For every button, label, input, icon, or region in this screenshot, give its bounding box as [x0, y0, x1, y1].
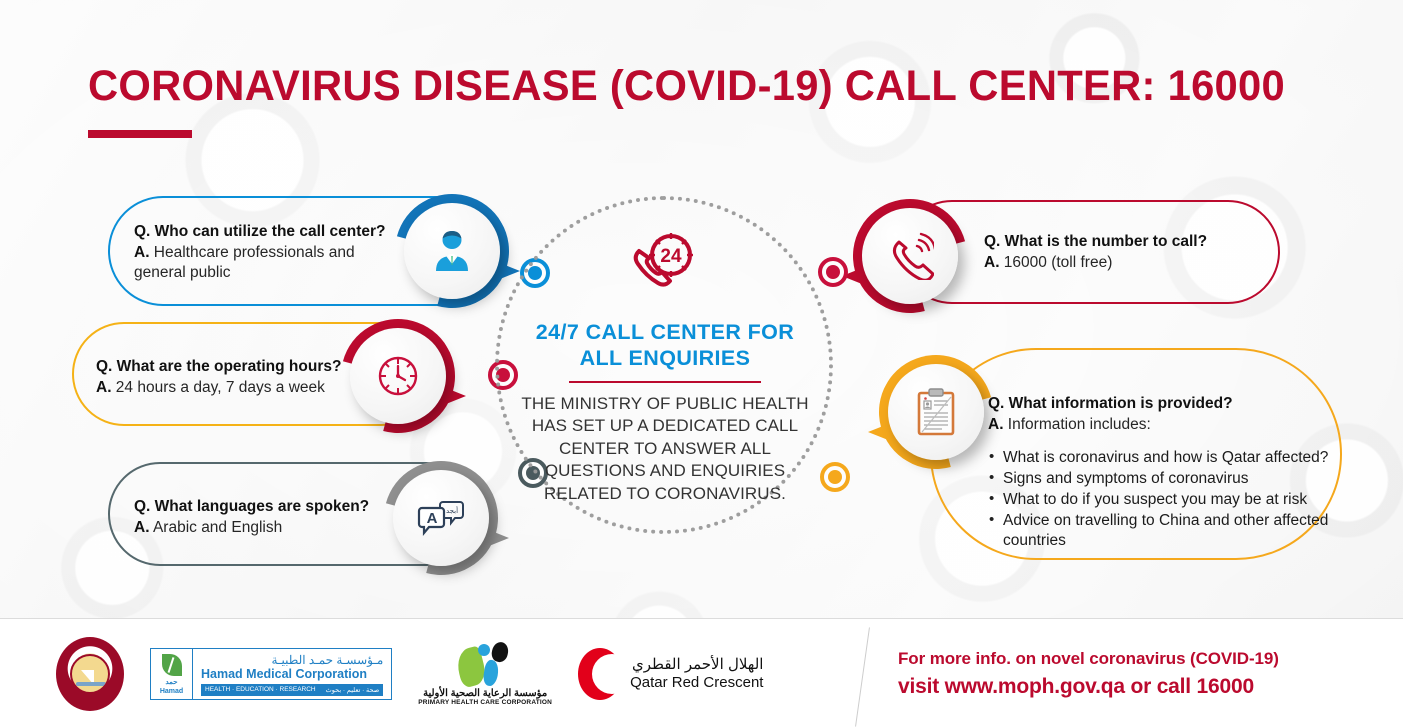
list-item: Signs and symptoms of coronavirus	[988, 469, 1340, 489]
center-icon-label: 24	[660, 246, 682, 267]
hmc-leaf-icon	[162, 654, 182, 676]
marker-red-right	[818, 257, 848, 287]
center-body-text: THE MINISTRY OF PUBLIC HEALTH HAS SET UP…	[519, 393, 811, 506]
hmc-wordmark: مـؤسسـة حمـد الطبيـة Hamad Medical Corpo…	[193, 649, 391, 699]
footer-call-to-action: For more info. on novel coronavirus (COV…	[898, 649, 1279, 699]
card-hours-text: Q. What are the operating hours? A. 24 h…	[96, 357, 361, 398]
card-hours-question: Q. What are the operating hours?	[96, 357, 361, 378]
center-heading-line2: ALL ENQUIRIES	[519, 346, 811, 372]
card-number-text: Q. What is the number to call? A. 16000 …	[984, 232, 1254, 273]
hours-icon-disc	[350, 328, 446, 424]
hmc-arabic-name: مـؤسسـة حمـد الطبيـة	[201, 653, 383, 667]
svg-text:A: A	[427, 510, 438, 527]
list-item: What is coronavirus and how is Qatar aff…	[988, 448, 1340, 468]
who-icon-disc	[404, 203, 500, 299]
phcc-blue-dot	[478, 644, 490, 656]
phcc-arabic-name: مؤسسة الرعاية الصحية الأولية	[423, 688, 547, 699]
footer-divider-line	[855, 627, 870, 726]
red-crescent-icon	[578, 648, 622, 700]
clipboard-icon	[914, 387, 958, 437]
hmc-tagline-ar: صحة · تعليم · بحوث	[326, 686, 380, 694]
qrc-english-name: Qatar Red Crescent	[630, 674, 763, 692]
partner-logos: حمد Hamad مـؤسسـة حمـد الطبيـة Hamad Med…	[56, 637, 763, 711]
infographic-poster: CORONAVIRUS DISEASE (COVID-19) CALL CENT…	[0, 0, 1403, 728]
card-information-text: Q. What information is provided? A. Info…	[988, 394, 1340, 552]
card-who-answer: Healthcare professionals and general pub…	[134, 244, 355, 282]
speech-bubbles-icon: أبجد A	[416, 497, 466, 539]
marker-orange	[820, 462, 850, 492]
hmc-mark-english: Hamad	[160, 688, 183, 695]
information-icon-disc	[888, 364, 984, 460]
card-hours-icon-bubble	[350, 328, 446, 424]
hamad-medical-corporation-logo: حمد Hamad مـؤسسـة حمـد الطبيـة Hamad Med…	[150, 648, 392, 700]
cta-line-2[interactable]: visit www.moph.gov.qa or call 16000	[898, 675, 1279, 699]
list-item: What to do if you suspect you may be at …	[988, 490, 1340, 510]
hmc-mark-arabic: حمد	[165, 678, 177, 686]
qrc-wordmark: الهلال الأحمر القطري Qatar Red Crescent	[630, 656, 763, 692]
card-who-answer-lead: A.	[134, 244, 150, 261]
card-hours-answer-lead: A.	[96, 379, 112, 396]
card-number-question: Q. What is the number to call?	[984, 232, 1254, 253]
card-hours-answer: 24 hours a day, 7 days a week	[112, 379, 325, 396]
number-icon-disc	[862, 208, 958, 304]
cta-line-1: For more info. on novel coronavirus (COV…	[898, 649, 1279, 669]
page-title-block: CORONAVIRUS DISEASE (COVID-19) CALL CENT…	[88, 62, 1322, 138]
card-languages-question: Q. What languages are spoken?	[134, 497, 399, 518]
hmc-english-name: Hamad Medical Corporation	[201, 667, 383, 681]
clock-icon	[374, 352, 422, 400]
information-bullet-list: What is coronavirus and how is Qatar aff…	[988, 448, 1340, 551]
marker-red-right-core	[826, 265, 840, 279]
center-icon-wrap: 24	[519, 224, 811, 306]
center-heading-underline	[569, 381, 761, 383]
card-number-icon-bubble	[862, 208, 958, 304]
phone-24-hours-icon: 24	[627, 229, 703, 301]
card-languages-answer: Arabic and English	[150, 519, 283, 536]
card-who-icon-bubble	[404, 203, 500, 299]
page-title: CORONAVIRUS DISEASE (COVID-19) CALL CENT…	[88, 62, 1285, 111]
card-who-text: Q. Who can utilize the call center? A. H…	[134, 222, 394, 284]
card-languages-answer-lead: A.	[134, 519, 150, 536]
moph-seal-inner	[70, 654, 110, 694]
card-information-answer: Information includes:	[1004, 416, 1151, 433]
businessperson-icon	[429, 228, 475, 274]
hmc-tagline-en: HEALTH · EDUCATION · RESEARCH	[205, 686, 316, 694]
list-item: Advice on travelling to China and other …	[988, 511, 1340, 551]
card-number-answer: 16000 (toll free)	[1000, 254, 1113, 271]
ministry-of-public-health-logo	[56, 637, 124, 711]
title-underline-rule	[88, 130, 192, 138]
card-languages-text: Q. What languages are spoken? A. Arabic …	[134, 497, 399, 538]
center-heading: 24/7 CALL CENTER FOR ALL ENQUIRIES	[519, 320, 811, 372]
card-who-question: Q. Who can utilize the call center?	[134, 222, 394, 243]
card-information-question: Q. What information is provided?	[988, 394, 1340, 415]
phcc-english-name: PRIMARY HEALTH CARE CORPORATION	[418, 699, 552, 706]
center-heading-line1: 24/7 CALL CENTER FOR	[519, 320, 811, 346]
footer-bar: حمد Hamad مـؤسسـة حمـد الطبيـة Hamad Med…	[0, 618, 1403, 728]
card-number-answer-lead: A.	[984, 254, 1000, 271]
hmc-mark: حمد Hamad	[151, 649, 193, 699]
marker-orange-core	[828, 470, 842, 484]
qatar-red-crescent-logo: الهلال الأحمر القطري Qatar Red Crescent	[578, 648, 763, 700]
primary-health-care-corporation-logo: مؤسسة الرعاية الصحية الأولية PRIMARY HEA…	[418, 642, 552, 706]
card-languages-icon-bubble: أبجد A	[393, 470, 489, 566]
center-content: 24 24/7 CALL CENTER FOR ALL ENQUIRIES TH…	[519, 224, 811, 506]
hmc-tagline-strip: HEALTH · EDUCATION · RESEARCH صحة · تعلي…	[201, 684, 383, 696]
phcc-emblem	[454, 642, 516, 688]
svg-text:أبجد: أبجد	[446, 506, 458, 515]
ringing-phone-icon	[886, 232, 934, 280]
card-information-icon-bubble	[888, 364, 984, 460]
languages-icon-disc: أبجد A	[393, 470, 489, 566]
phcc-blue-shape	[482, 659, 500, 687]
qrc-arabic-name: الهلال الأحمر القطري	[630, 656, 763, 674]
